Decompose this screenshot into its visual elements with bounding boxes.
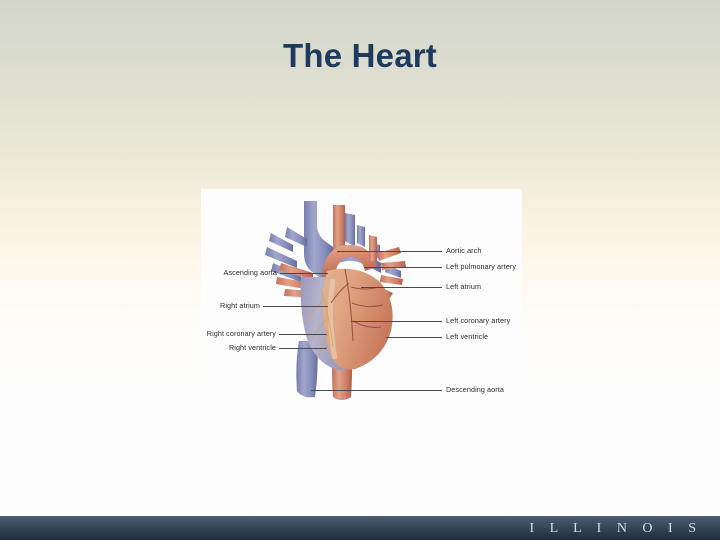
label-right-atrium: Right atrium <box>201 302 260 309</box>
label-descending-aorta: Descending aorta <box>446 386 504 393</box>
label-right-coronary-artery: Right coronary artery <box>197 330 276 337</box>
leader-right-ventricle <box>279 348 327 349</box>
leader-left-atrium <box>361 287 442 288</box>
leader-aortic-arch <box>337 251 442 252</box>
leader-left-pulmonary-artery <box>364 267 442 268</box>
leader-right-coronary-artery <box>279 334 327 335</box>
leader-left-ventricle <box>386 337 442 338</box>
heart-diagram-panel: Ascending aorta Right atrium Right coron… <box>201 189 522 407</box>
leader-right-atrium <box>263 306 328 307</box>
leader-left-coronary-artery <box>351 321 442 322</box>
label-left-coronary-artery: Left coronary artery <box>446 317 510 324</box>
label-right-ventricle: Right ventricle <box>201 344 276 351</box>
label-left-atrium: Left atrium <box>446 283 481 290</box>
label-aortic-arch: Aortic arch <box>446 247 481 254</box>
slide-canvas: The Heart <box>0 0 720 540</box>
leader-ascending-aorta <box>280 273 328 274</box>
leader-descending-aorta <box>311 390 442 391</box>
label-left-pulmonary-artery: Left pulmonary artery <box>446 263 516 270</box>
illinois-wordmark: I L L I N O I S <box>529 521 702 537</box>
heart-illustration <box>241 191 426 406</box>
label-ascending-aorta: Ascending aorta <box>201 269 277 276</box>
label-left-ventricle: Left ventricle <box>446 333 488 340</box>
page-title: The Heart <box>0 37 720 75</box>
